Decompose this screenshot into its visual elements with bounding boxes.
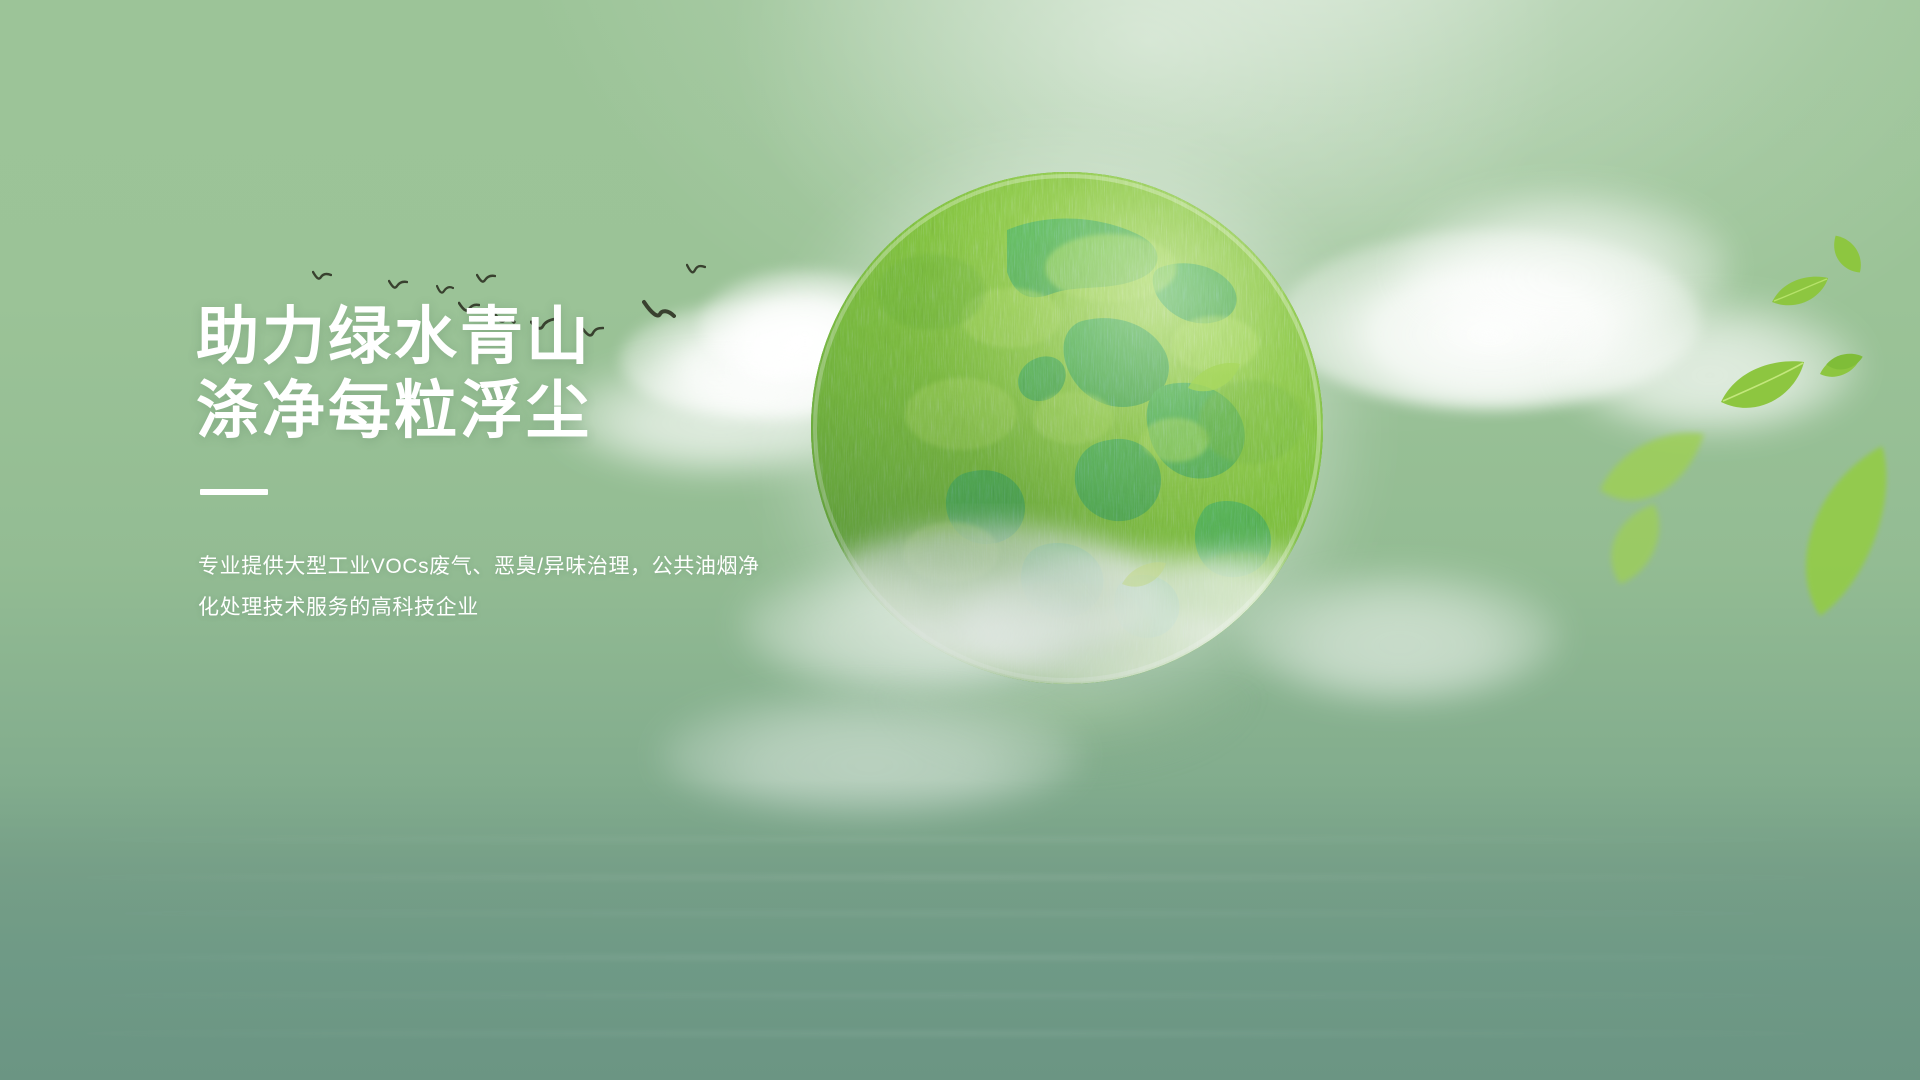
hero-description: 专业提供大型工业VOCs废气、恶臭/异味治理，公共油烟净 化处理技术服务的高科技… xyxy=(198,547,738,629)
headline-line-2: 涤净每粒浮尘 xyxy=(196,374,936,448)
description-line-2: 化处理技术服务的高科技企业 xyxy=(198,588,738,629)
title-divider xyxy=(200,489,268,495)
page-title: 助力绿水青山 涤净每粒浮尘 xyxy=(196,300,936,449)
description-line-1: 专业提供大型工业VOCs废气、恶臭/异味治理，公共油烟净 xyxy=(198,547,738,588)
headline-line-1: 助力绿水青山 xyxy=(196,300,936,374)
water-surface xyxy=(0,780,1920,1080)
hero-copy: 助力绿水青山 涤净每粒浮尘 专业提供大型工业VOCs废气、恶臭/异味治理，公共油… xyxy=(196,300,936,629)
hero-banner: 助力绿水青山 涤净每粒浮尘 专业提供大型工业VOCs废气、恶臭/异味治理，公共油… xyxy=(0,0,1920,1080)
